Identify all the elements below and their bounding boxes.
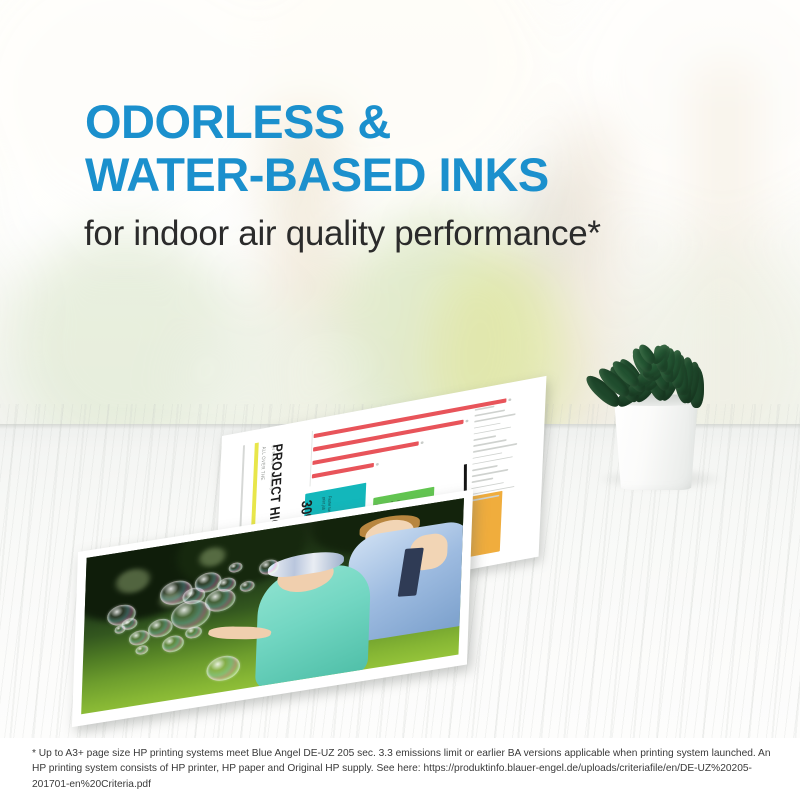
report-text-line [471, 495, 500, 502]
soap-bubble [162, 634, 184, 653]
soap-bubble [114, 625, 126, 635]
footnote-band: * Up to A3+ page size HP printing system… [0, 738, 800, 800]
report-text-line [472, 465, 498, 471]
report-bar [312, 463, 374, 479]
report-bar-endpoint [420, 441, 423, 444]
report-text-line [474, 426, 511, 434]
report-text-line [473, 435, 496, 441]
footnote-text: * Up to A3+ page size HP printing system… [32, 746, 772, 792]
photo-print-wrapper [78, 552, 508, 732]
soap-bubble [136, 644, 149, 655]
report-eyebrow: ALL OVER THE [259, 446, 266, 481]
report-text-line [472, 469, 508, 477]
soap-bubble [206, 653, 241, 683]
report-bar-endpoint [375, 463, 378, 466]
potted-plant [592, 312, 722, 492]
report-bar-endpoint [508, 398, 511, 401]
report-bar-endpoint [465, 420, 468, 423]
report-text-line [473, 452, 503, 459]
page-subheadline: for indoor air quality performance* [84, 214, 784, 254]
marketing-image: ALL OVER THE Q4 Review — Summary PROJECT… [0, 0, 800, 800]
report-text-line [472, 478, 494, 483]
report-text-column [470, 401, 520, 510]
soap-bubble [129, 629, 150, 647]
headline-line-2: WATER-BASED INKS [85, 148, 745, 201]
plant-pot [610, 394, 702, 490]
headline-line-1: ODORLESS & [85, 95, 745, 148]
report-text-line [474, 422, 501, 428]
page-headline: ODORLESS & WATER-BASED INKS [85, 95, 745, 201]
